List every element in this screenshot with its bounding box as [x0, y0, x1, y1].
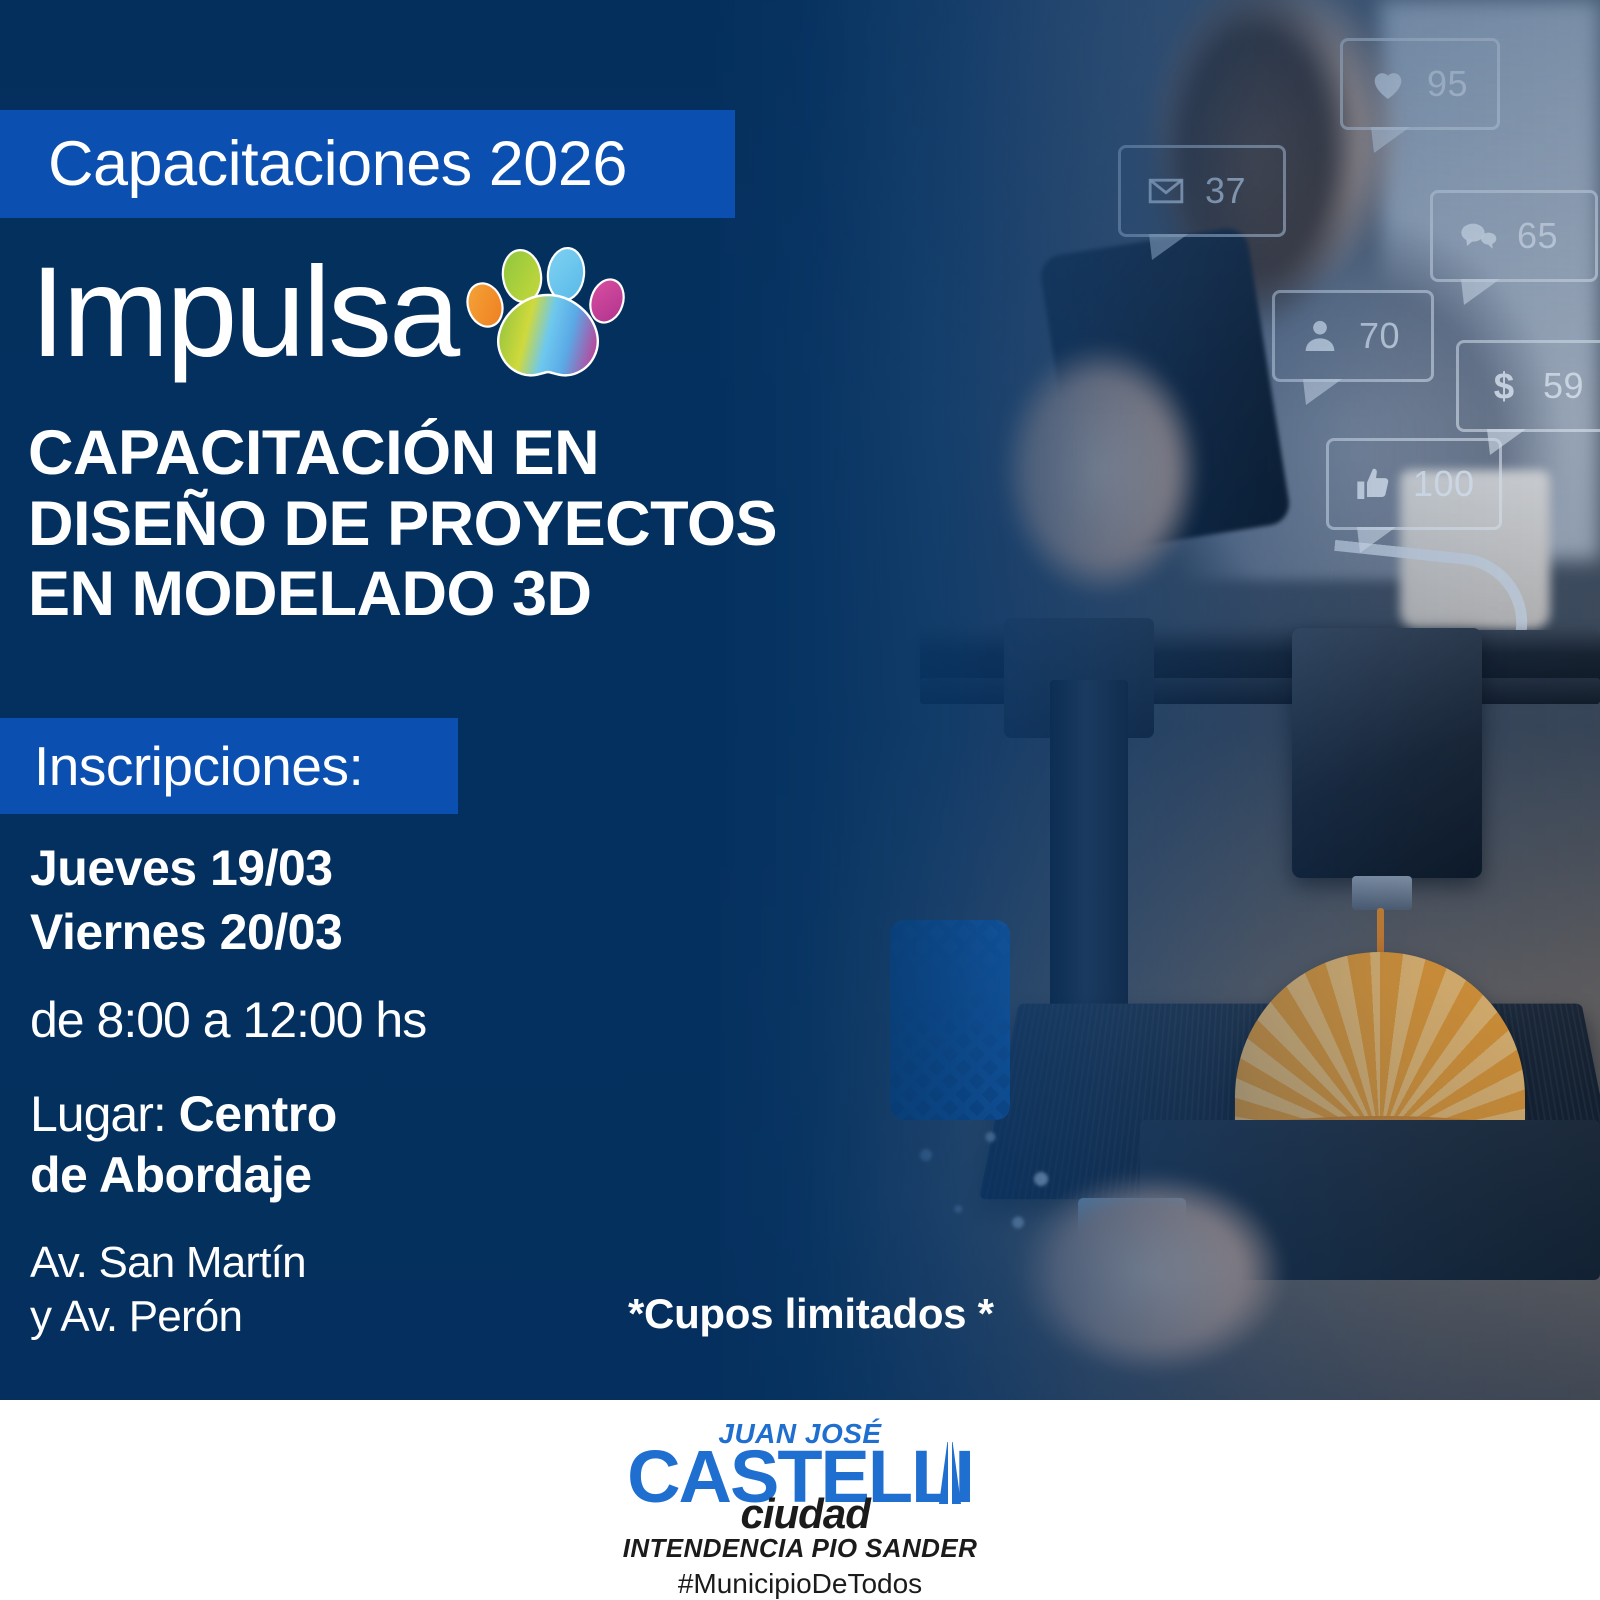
address-line-2: y Av. Perón	[30, 1290, 730, 1344]
impulsa-brand: Impulsa	[30, 243, 635, 383]
municipality-logo: JUAN JOSÉ CASTELLI ciudad	[635, 1418, 965, 1519]
footer-hashtag: #MunicipioDeTodos	[678, 1568, 922, 1600]
event-date-2: Viernes 20/03	[30, 900, 730, 964]
place-name-line-2: de Abordaje	[30, 1147, 312, 1203]
event-time: de 8:00 a 12:00 hs	[30, 990, 730, 1050]
inscriptions-banner: Inscripciones:	[0, 718, 458, 814]
event-details: Jueves 19/03 Viernes 20/03 de 8:00 a 12:…	[30, 836, 730, 1343]
logo-ciudad: ciudad	[740, 1490, 869, 1538]
event-date-1: Jueves 19/03	[30, 836, 730, 900]
address-line-1: Av. San Martín	[30, 1236, 730, 1290]
top-banner: Capacitaciones 2026	[0, 110, 735, 218]
page-title: CAPACITACIÓN EN DISEÑO DE PROYECTOS EN M…	[28, 418, 988, 630]
event-place: Lugar: Centro de Abordaje	[30, 1084, 730, 1206]
headline-line-2: DISEÑO DE PROYECTOS	[28, 489, 988, 560]
inscriptions-banner-label: Inscripciones:	[0, 734, 363, 798]
place-label: Lugar:	[30, 1086, 179, 1142]
footer-bar: JUAN JOSÉ CASTELLI ciudad INTENDENCIA PI…	[0, 1400, 1600, 1600]
event-address: Av. San Martín y Av. Perón	[30, 1236, 730, 1343]
place-name-line-1: Centro	[179, 1086, 337, 1142]
headline-line-1: CAPACITACIÓN EN	[28, 418, 988, 489]
paw-print-icon	[465, 243, 635, 383]
headline-line-3: EN MODELADO 3D	[28, 559, 988, 630]
top-banner-label: Capacitaciones 2026	[0, 128, 627, 200]
poster-root: 95 37 65 70 $ 59	[0, 0, 1600, 1600]
limited-seats-note: *Cupos limitados *	[628, 1290, 994, 1338]
impulsa-wordmark: Impulsa	[30, 249, 457, 377]
